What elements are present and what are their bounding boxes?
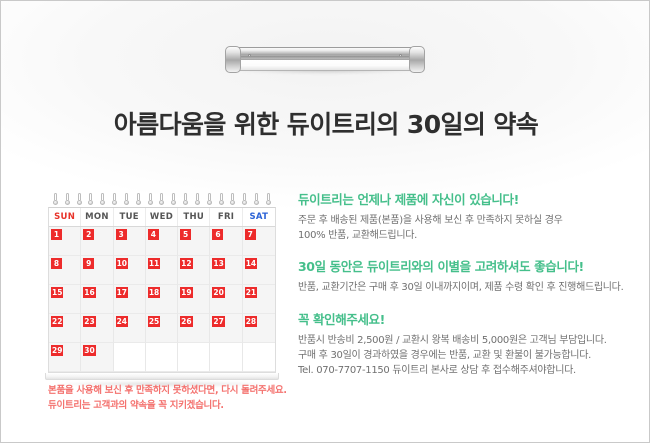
calendar-cell-day: 14 [243, 256, 275, 285]
calendar-ring-icon [77, 193, 82, 206]
policy-line: 반품, 교환기간은 구매 후 30일 이내까지이며, 제품 수령 확인 후 진행… [298, 280, 638, 295]
calendar-cell-day: 7 [243, 227, 275, 256]
calendar-cell-day: 15 [49, 285, 81, 314]
calendar-cell-day: 8 [49, 256, 81, 285]
calendar-day-number: 22 [51, 316, 63, 327]
calendar-day-number: 30 [83, 345, 95, 356]
calendar-day-number: 5 [180, 229, 191, 240]
calendar-day-number: 8 [51, 258, 62, 269]
calendar-cell-day: 3 [114, 227, 146, 256]
calendar-day-number: 1 [51, 229, 62, 240]
promo-page: 아름다움을 위한 듀이트리의 30일의 약속 SUNMONTUEWEDTHUFR… [0, 0, 650, 443]
calendar-cell-empty [178, 343, 210, 372]
calendar-day-header-sat: SAT [243, 208, 275, 226]
policy-line: 주문 후 배송된 제품(본품)을 사용해 보신 후 만족하지 못하실 경우 [298, 213, 638, 228]
calendar-day-number: 25 [148, 316, 160, 327]
calendar-cell-day: 4 [146, 227, 178, 256]
calendar-day-number: 19 [180, 287, 192, 298]
calendar-cell-day: 22 [49, 314, 81, 343]
calendar-day-number: 3 [116, 229, 127, 240]
calendar-day-header-tue: TUE [114, 208, 146, 226]
calendar-ring-icon [254, 193, 259, 206]
policy-info-column: 듀이트리는 언제나 제품에 자신이 있습니다!주문 후 배송된 제품(본품)을 … [298, 189, 638, 378]
calendar-spiral-binding-icon [48, 193, 276, 207]
calendar-day-number: 15 [51, 287, 63, 298]
calendar-day-number: 26 [180, 316, 192, 327]
calendar-day-number: 11 [148, 258, 160, 269]
calendar-day-header-mon: MON [81, 208, 113, 226]
footer-line: 본품을 사용해 보신 후 만족하지 못하셨다면, 다시 돌려주세요. [48, 384, 448, 399]
calendar-cell-day: 25 [146, 314, 178, 343]
calendar-day-number: 12 [180, 258, 192, 269]
calendar-day-number: 27 [212, 316, 224, 327]
calendar-day-number: 28 [245, 316, 257, 327]
calendar-day-header-fri: FRI [210, 208, 242, 226]
calendar-day-number: 9 [83, 258, 94, 269]
calendar-hanger-bar-icon [225, 45, 425, 77]
calendar-ring-icon [136, 193, 141, 206]
calendar-cell-day: 19 [178, 285, 210, 314]
policy-line: Tel. 070-7707-1150 듀이트리 본사로 상담 후 접수해주셔야합… [298, 363, 638, 378]
calendar-day-number: 14 [245, 258, 257, 269]
calendar-day-number: 10 [116, 258, 128, 269]
calendar-ring-icon [242, 193, 247, 206]
calendar-cell-day: 13 [210, 256, 242, 285]
calendar-day-grid: 1234567891011121314151617181920212223242… [49, 227, 275, 372]
calendar-ring-icon [100, 193, 105, 206]
calendar-cell-empty [243, 343, 275, 372]
calendar-cell-day: 21 [243, 285, 275, 314]
calendar-ring-icon [88, 193, 93, 206]
calendar-cell-empty [210, 343, 242, 372]
calendar-ring-icon [207, 193, 212, 206]
hanger-bar-lower [234, 60, 416, 71]
calendar-ring-icon [124, 193, 129, 206]
footer-line: 듀이트리는 고객과의 약속을 꼭 지키겠습니다. [48, 399, 448, 414]
page-title: 아름다움을 위한 듀이트리의 30일의 약속 [1, 105, 650, 141]
calendar-cell-day: 1 [49, 227, 81, 256]
calendar-ring-icon [148, 193, 153, 206]
calendar-cell-empty [114, 343, 146, 372]
calendar-day-number: 2 [83, 229, 94, 240]
calendar-cell-day: 18 [146, 285, 178, 314]
policy-block: 30일 동안은 듀이트리와의 이별을 고려하셔도 좋습니다!반품, 교환기간은 … [298, 256, 638, 295]
calendar-cell-empty [146, 343, 178, 372]
calendar-ring-icon [65, 193, 70, 206]
calendar-day-number: 16 [83, 287, 95, 298]
calendar-cell-day: 11 [146, 256, 178, 285]
calendar-illustration: SUNMONTUEWEDTHUFRISAT 123456789101112131… [48, 193, 276, 387]
calendar-cell-day: 10 [114, 256, 146, 285]
calendar-ring-icon [53, 193, 58, 206]
calendar-cell-day: 23 [81, 314, 113, 343]
policy-block: 꼭 확인해주세요!반품시 반송비 2,500원 / 교환시 왕복 배송비 5,0… [298, 309, 638, 379]
calendar-day-number: 13 [212, 258, 224, 269]
calendar-day-number: 24 [116, 316, 128, 327]
policy-heading: 30일 동안은 듀이트리와의 이별을 고려하셔도 좋습니다! [298, 256, 638, 275]
calendar-cell-day: 12 [178, 256, 210, 285]
calendar-cell-day: 6 [210, 227, 242, 256]
calendar-day-number: 7 [245, 229, 256, 240]
calendar-day-headers: SUNMONTUEWEDTHUFRISAT [49, 208, 275, 227]
calendar-ring-icon [171, 193, 176, 206]
policy-line: 반품시 반송비 2,500원 / 교환시 왕복 배송비 5,000원은 고객님 … [298, 333, 638, 348]
calendar-day-header-wed: WED [146, 208, 178, 226]
calendar-cell-day: 20 [210, 285, 242, 314]
hanger-cap-left [225, 46, 241, 73]
calendar-base [45, 373, 279, 380]
calendar-cell-day: 29 [49, 343, 81, 372]
policy-heading: 듀이트리는 언제나 제품에 자신이 있습니다! [298, 189, 638, 208]
calendar-cell-day: 24 [114, 314, 146, 343]
policy-block: 듀이트리는 언제나 제품에 자신이 있습니다!주문 후 배송된 제품(본품)을 … [298, 189, 638, 243]
calendar-cell-day: 26 [178, 314, 210, 343]
calendar-day-header-thu: THU [178, 208, 210, 226]
calendar-ring-icon [219, 193, 224, 206]
calendar-cell-day: 30 [81, 343, 113, 372]
calendar-ring-icon [230, 193, 235, 206]
hanger-cap-right [409, 46, 425, 73]
calendar-day-number: 23 [83, 316, 95, 327]
calendar-ring-icon [112, 193, 117, 206]
calendar-sheet: SUNMONTUEWEDTHUFRISAT 123456789101112131… [48, 207, 276, 373]
calendar-day-number: 20 [212, 287, 224, 298]
calendar-day-number: 29 [51, 345, 63, 356]
footer-message: 본품을 사용해 보신 후 만족하지 못하셨다면, 다시 돌려주세요.듀이트리는 … [48, 384, 448, 413]
calendar-ring-icon [266, 193, 271, 206]
calendar-day-number: 6 [212, 229, 223, 240]
calendar-cell-day: 2 [81, 227, 113, 256]
calendar-day-number: 17 [116, 287, 128, 298]
calendar-ring-icon [183, 193, 188, 206]
calendar-cell-day: 17 [114, 285, 146, 314]
calendar-cell-day: 28 [243, 314, 275, 343]
calendar-day-number: 4 [148, 229, 159, 240]
calendar-cell-day: 16 [81, 285, 113, 314]
calendar-cell-day: 5 [178, 227, 210, 256]
calendar-cell-day: 27 [210, 314, 242, 343]
calendar-day-number: 21 [245, 287, 257, 298]
calendar-ring-icon [159, 193, 164, 206]
calendar-day-number: 18 [148, 287, 160, 298]
calendar-ring-icon [195, 193, 200, 206]
calendar-day-header-sun: SUN [49, 208, 81, 226]
policy-line: 100% 반품, 교환해드립니다. [298, 228, 638, 243]
policy-heading: 꼭 확인해주세요! [298, 309, 638, 328]
policy-line: 구매 후 30일이 경과하였을 경우에는 반품, 교환 및 환불이 불가능합니다… [298, 348, 638, 363]
calendar-cell-day: 9 [81, 256, 113, 285]
